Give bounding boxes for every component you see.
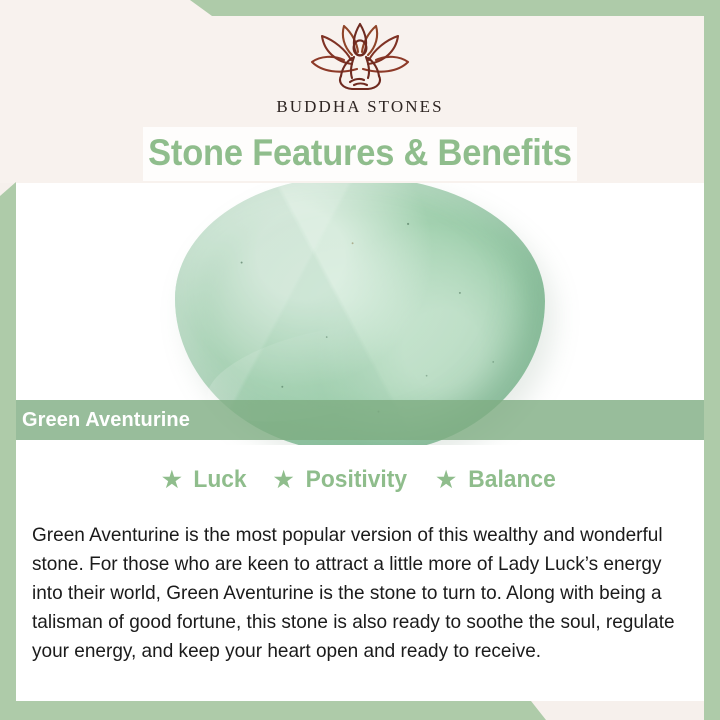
benefit-label-balance: Balance <box>468 466 555 494</box>
star-icon: ★ <box>162 469 182 491</box>
benefit-label-positivity: Positivity <box>306 466 407 494</box>
benefit-keywords: ★ Luck ★ Positivity ★ Balance <box>16 466 704 494</box>
infographic-page: BUDDHA STONES Stone Features & Benefits … <box>0 0 720 720</box>
description-text: Green Aventurine is the most popular ver… <box>32 521 676 666</box>
product-name: Green Aventurine <box>22 400 190 440</box>
header-section: BUDDHA STONES Stone Features & Benefits <box>0 0 720 183</box>
frame-right-accent <box>704 0 720 720</box>
brand-name: BUDDHA STONES <box>276 97 443 117</box>
brand-logo: BUDDHA STONES <box>0 22 720 117</box>
lotus-meditation-figure-icon <box>294 22 426 94</box>
star-icon: ★ <box>274 469 294 491</box>
page-title: Stone Features & Benefits <box>158 128 562 178</box>
frame-bottom-accent <box>0 701 720 720</box>
star-icon: ★ <box>436 469 456 491</box>
benefit-label-luck: Luck <box>193 466 246 494</box>
